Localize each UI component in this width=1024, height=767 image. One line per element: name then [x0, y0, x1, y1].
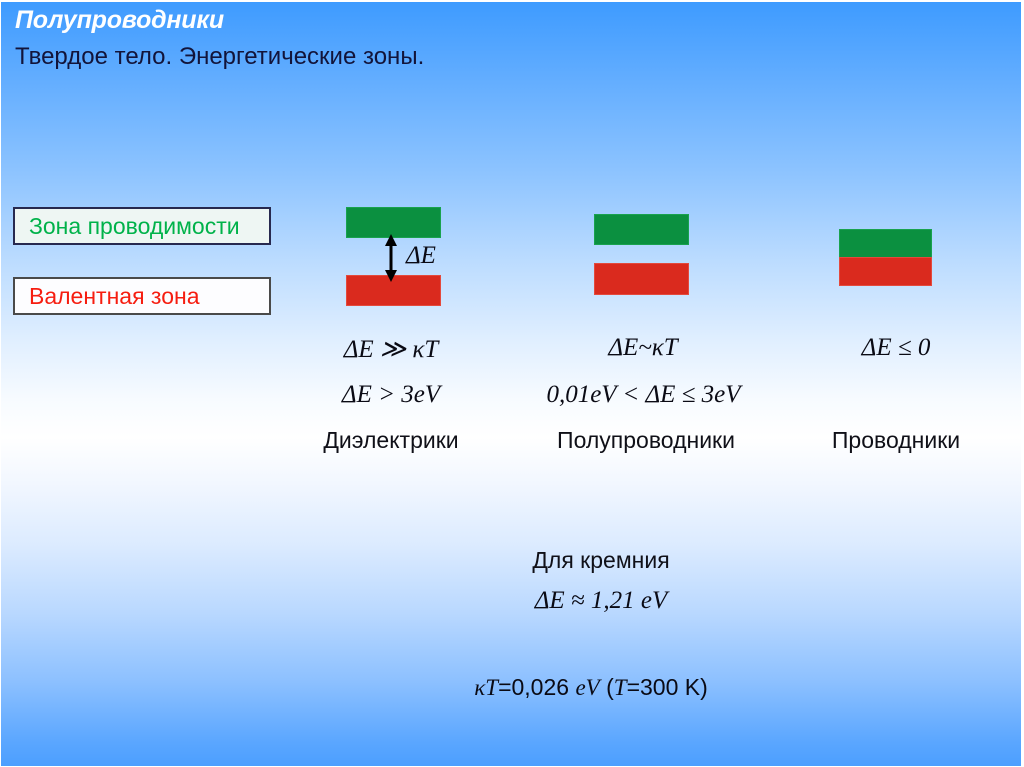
energy-gap-arrow-icon [373, 234, 409, 282]
legend-conduction-label: Зона проводимости [29, 213, 240, 240]
kt-value: =0,026 [498, 674, 575, 700]
thermal-energy-note: κT=0,026 eV (T=300 K) [391, 674, 791, 701]
caption-semiconductor: Полупроводники [546, 427, 746, 454]
legend-valence-label: Валентная зона [29, 283, 200, 310]
page-subtitle: Твердое тело. Энергетические зоны. [15, 43, 424, 71]
slide-canvas: Полупроводники Твердое тело. Энергетичес… [0, 0, 1024, 767]
conduction-band-conductor [839, 229, 932, 258]
condition-conductor: ΔE ≤ 0 [801, 334, 991, 362]
condition-dielectric: ΔE ≫ κT [291, 334, 491, 364]
energy-gap-label: ΔE [406, 242, 436, 270]
condition-semiconductor: ΔE~κT [553, 334, 733, 362]
temperature-symbol: T [614, 675, 627, 700]
temperature-value: =300 K) [627, 674, 708, 700]
conduction-band-semiconductor [594, 214, 689, 245]
caption-dielectric: Диэлектрики [291, 427, 491, 454]
caption-conductor: Проводники [801, 427, 991, 454]
kt-unit: eV [575, 675, 599, 700]
valence-band-conductor [839, 257, 932, 286]
legend-valence-band: Валентная зона [13, 277, 271, 315]
kt-paren-open: ( [600, 674, 614, 700]
valence-band-semiconductor [594, 263, 689, 295]
silicon-note-heading: Для кремния [451, 547, 751, 574]
legend-conduction-band: Зона проводимости [13, 207, 271, 245]
kt-symbol: κT [474, 675, 498, 700]
silicon-note-formula: ΔE ≈ 1,21 eV [451, 587, 751, 615]
page-title: Полупроводники [15, 6, 224, 35]
range-semiconductor: 0,01eV < ΔE ≤ 3eV [501, 381, 786, 409]
range-dielectric: ΔE > 3eV [291, 381, 491, 409]
